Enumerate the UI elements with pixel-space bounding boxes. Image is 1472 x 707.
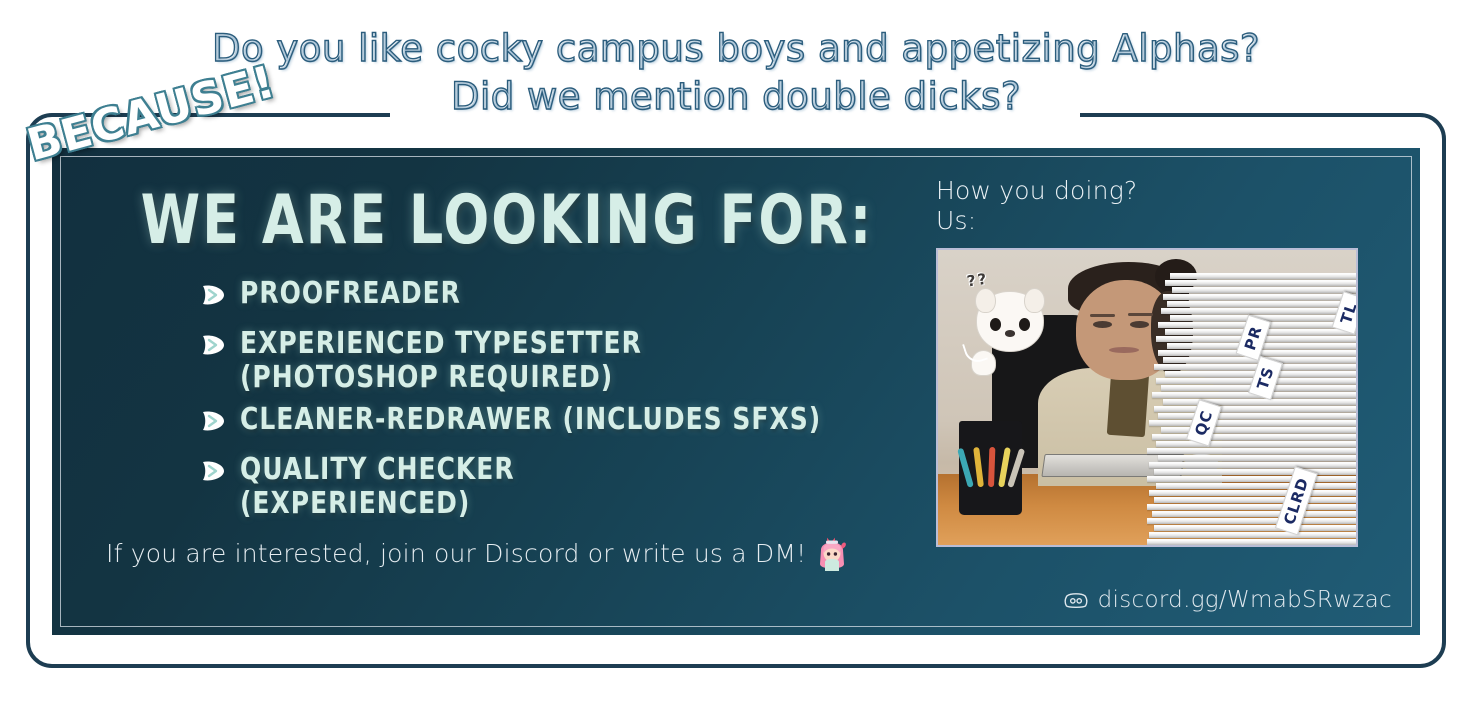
office-photo: ?? [936,248,1358,547]
photo-person-brow-left [1090,314,1115,317]
call-to-action: If you are interested, join our Discord … [92,534,922,574]
photo-person-eye-left [1093,321,1112,328]
photo-person-collar [1107,370,1149,437]
arrow-bullet-icon [200,284,226,306]
job-positions-list: PROOFREADER EXPERIENCED TYPESETTER (PHOT… [92,276,922,508]
arrow-bullet-icon [200,410,226,432]
anime-girl-sticker-icon [815,534,849,574]
list-item: QUALITY CHECKER (EXPERIENCED) [200,452,922,508]
list-item: EXPERIENCED TYPESETTER (PHOTOSHOP REQUIR… [200,326,922,382]
right-content-column: How you doing? Us: [936,176,1386,547]
discord-invite-label: discord.gg/WmabSRwzac [1098,587,1392,613]
answer-label: Us: [936,206,1386,236]
recruitment-panel: WE ARE LOOKING FOR: PROOFREADER [52,148,1420,635]
list-item: CLEANER-REDRAWER (INCLUDES SFXS) [200,402,922,432]
list-item: PROOFREADER [200,276,922,306]
question-text: How you doing? [936,176,1386,206]
discord-logo-icon [1063,590,1089,610]
job-label: PROOFREADER [240,276,461,310]
photo-pen-cup [959,421,1022,515]
headline-primary: Do you like cocky campus boys and appeti… [0,0,1472,72]
discord-invite-link[interactable]: discord.gg/WmabSRwzac [1063,587,1392,613]
thinking-marks-icon: ?? [966,269,990,290]
job-label: QUALITY CHECKER (EXPERIENCED) [240,452,515,520]
pug-dog-sticker-icon [976,291,1045,352]
job-label: EXPERIENCED TYPESETTER (PHOTOSHOP REQUIR… [240,326,642,394]
job-label: CLEANER-REDRAWER (INCLUDES SFXS) [240,402,821,436]
left-content-column: WE ARE LOOKING FOR: PROOFREADER [92,184,922,574]
page-title: WE ARE LOOKING FOR: [92,184,922,257]
paper-stack: TL PR TS QC CLRD [1147,271,1358,547]
arrow-bullet-icon [200,334,226,356]
arrow-bullet-icon [200,460,226,482]
cta-label: If you are interested, join our Discord … [106,539,806,569]
frame-top-gap [390,100,1080,134]
